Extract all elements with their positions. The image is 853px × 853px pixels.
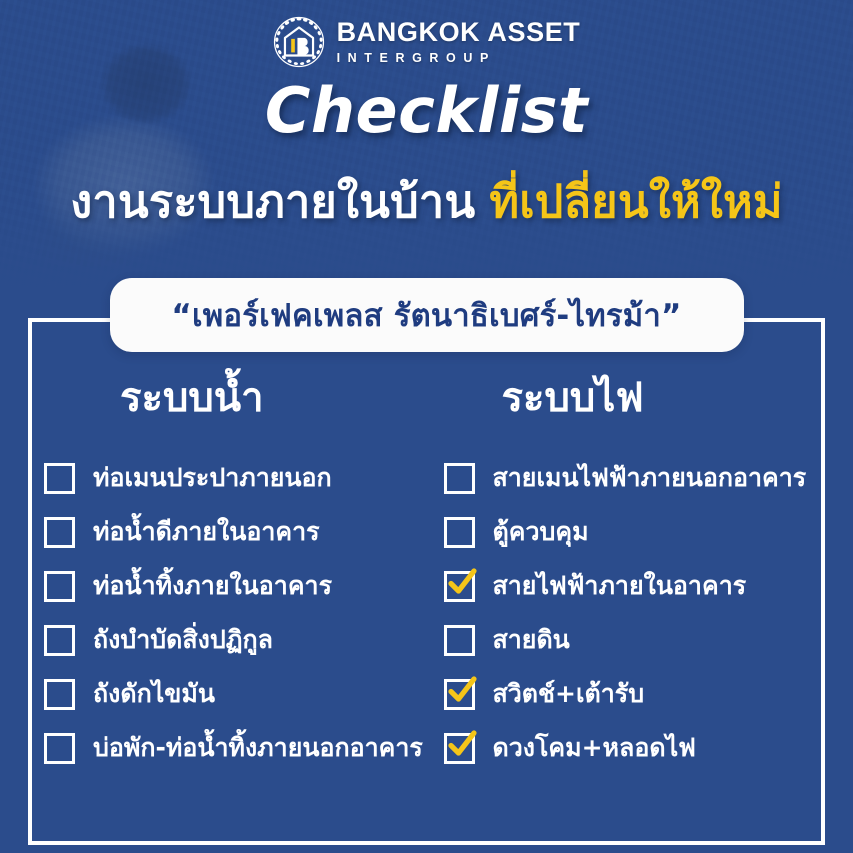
checkbox-unchecked-icon[interactable] [44,733,75,764]
list-item[interactable]: สายดิน [444,624,826,656]
checklist-items-electrical: สายเมนไฟฟ้าภายนอกอาคาร ตู้ควบคุม สายไฟฟ้… [444,462,826,764]
checkbox-checked-icon[interactable] [444,733,475,764]
checklist-columns: ระบบน้ำ ท่อเมนประปาภายนอก ท่อน้ำดีภายในอ… [28,378,825,764]
checkbox-unchecked-icon[interactable] [444,463,475,494]
list-item[interactable]: สายไฟฟ้าภายในอาคาร [444,570,826,602]
column-title-water: ระบบน้ำ [44,378,426,418]
project-name-text: “เพอร์เฟคเพลส รัตนาธิเบศร์-ไทรม้า” [171,290,681,340]
list-item[interactable]: สายเมนไฟฟ้าภายนอกอาคาร [444,462,826,494]
brand-text-block: BANGKOK ASSET INTERGROUP [337,19,581,65]
project-name-badge: “เพอร์เฟคเพลส รัตนาธิเบศร์-ไทรม้า” [110,278,744,352]
list-item[interactable]: ตู้ควบคุม [444,516,826,548]
page-title: Checklist [265,80,588,142]
list-item[interactable]: ถังดักไขมัน [44,678,426,710]
checkmark-icon [444,727,478,761]
checkbox-unchecked-icon[interactable] [44,625,75,656]
list-item-label: ถังดักไขมัน [93,680,215,708]
list-item-label: สายดิน [493,626,570,654]
brand-subtitle: INTERGROUP [337,52,581,65]
checklist-items-water: ท่อเมนประปาภายนอก ท่อน้ำดีภายในอาคาร ท่อ… [44,462,426,764]
checkbox-unchecked-icon[interactable] [44,571,75,602]
checkbox-unchecked-icon[interactable] [44,463,75,494]
headline-block: Checklist [0,80,853,142]
list-item[interactable]: สวิตช์+เต้ารับ [444,678,826,710]
checkbox-unchecked-icon[interactable] [44,517,75,548]
brand-name: BANGKOK ASSET [337,19,581,46]
subheadline: งานระบบภายในบ้านที่เปลี่ยนให้ใหม่ [0,176,853,228]
list-item-label: ตู้ควบคุม [493,518,589,546]
list-item-label: ท่อน้ำดีภายในอาคาร [93,518,320,546]
laurel-house-monogram-logo-icon [273,16,325,68]
list-item[interactable]: ถังบำบัดสิ่งปฏิกูล [44,624,426,656]
list-item-label: ท่อน้ำทิ้งภายในอาคาร [93,572,332,600]
list-item[interactable]: ท่อน้ำดีภายในอาคาร [44,516,426,548]
checklist-poster: BANGKOK ASSET INTERGROUP Checklist งานระ… [0,0,853,853]
list-item-label: สวิตช์+เต้ารับ [493,680,645,708]
list-item-label: สายไฟฟ้าภายในอาคาร [493,572,747,600]
checkmark-icon [444,673,478,707]
list-item-label: บ่อพัก-ท่อน้ำทิ้งภายนอกอาคาร [93,734,423,762]
subheadline-white-text: งานระบบภายในบ้าน [70,175,475,228]
list-item[interactable]: ท่อน้ำทิ้งภายในอาคาร [44,570,426,602]
brand-lockup: BANGKOK ASSET INTERGROUP [0,16,853,68]
list-item[interactable]: ท่อเมนประปาภายนอก [44,462,426,494]
list-item-label: ถังบำบัดสิ่งปฏิกูล [93,626,273,654]
column-title-electrical: ระบบไฟ [444,378,826,418]
checklist-column-electrical: ระบบไฟ สายเมนไฟฟ้าภายนอกอาคาร ตู้ควบคุม [426,378,826,764]
checkbox-checked-icon[interactable] [444,571,475,602]
subheadline-gold-text: ที่เปลี่ยนให้ใหม่ [489,175,782,228]
checkbox-unchecked-icon[interactable] [444,625,475,656]
checklist-column-water: ระบบน้ำ ท่อเมนประปาภายนอก ท่อน้ำดีภายในอ… [28,378,426,764]
checkmark-icon [444,565,478,599]
list-item[interactable]: ดวงโคม+หลอดไฟ [444,732,826,764]
checkbox-unchecked-icon[interactable] [444,517,475,548]
list-item-label: ท่อเมนประปาภายนอก [93,464,332,492]
checkbox-checked-icon[interactable] [444,679,475,710]
list-item[interactable]: บ่อพัก-ท่อน้ำทิ้งภายนอกอาคาร [44,732,426,764]
checkbox-unchecked-icon[interactable] [44,679,75,710]
list-item-label: ดวงโคม+หลอดไฟ [493,734,696,762]
list-item-label: สายเมนไฟฟ้าภายนอกอาคาร [493,464,807,492]
